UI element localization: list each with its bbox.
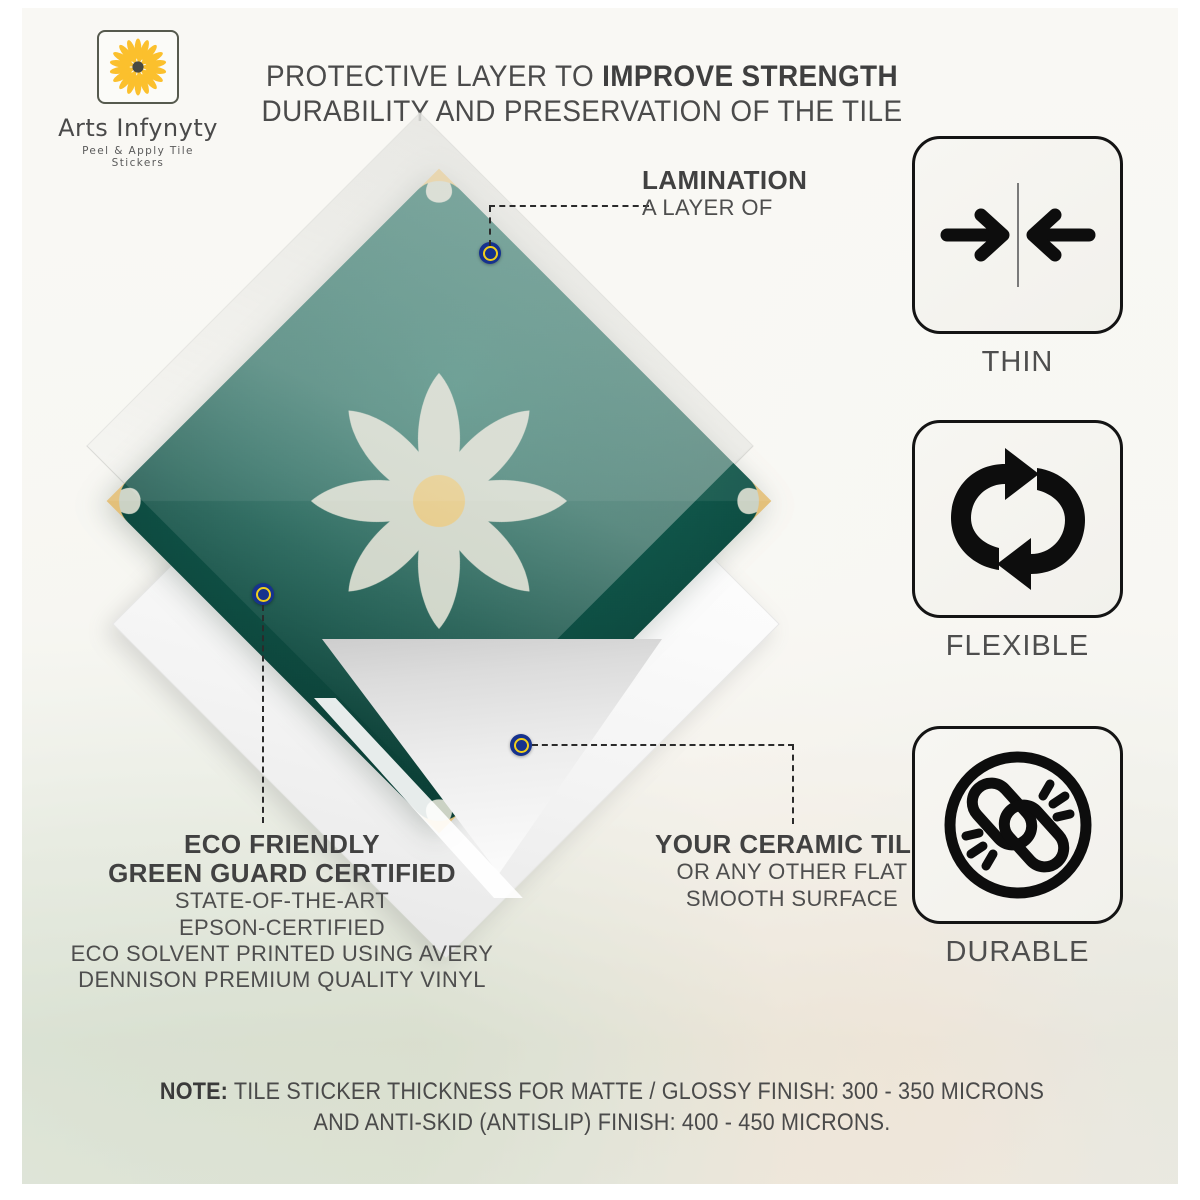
note-line-1-text: TILE STICKER THICKNESS FOR MATTE / GLOSS… [228,1078,1044,1105]
feature-flexible-box [912,420,1123,618]
callout-eco-body-3: ECO SOLVENT PRINTED USING AVERY [36,941,528,967]
callout-marker-eco-friendly[interactable] [252,583,274,605]
layer-stack-illustration [92,138,932,928]
feature-durable-box [912,726,1123,924]
leader-line-lamination-vertical [489,206,491,246]
page-title: PROTECTIVE LAYER TO IMPROVE STRENGTH DUR… [202,60,962,130]
feature-flexible-label: FLEXIBLE [910,630,1125,663]
headline-line-1: PROTECTIVE LAYER TO IMPROVE STRENGTH [229,60,936,95]
note-prefix: NOTE: [160,1078,228,1105]
callout-eco-friendly: ECO FRIENDLY GREEN GUARD CERTIFIED STATE… [36,830,528,994]
note-line-1: NOTE: TILE STICKER THICKNESS FOR MATTE /… [134,1076,1070,1107]
headline-line-2: DURABILITY AND PRESERVATION OF THE TILE [229,95,936,130]
callout-lamination-title: LAMINATION [642,166,807,195]
headline-emphasis: IMPROVE STRENGTH [602,60,898,93]
feature-thin: THIN [910,136,1125,379]
leader-line-lamination-horizontal [489,205,649,207]
footer-note: NOTE: TILE STICKER THICKNESS FOR MATTE /… [82,1076,1122,1138]
callout-eco-title-1: ECO FRIENDLY [36,830,528,859]
callout-eco-body-2: EPSON-CERTIFIED [36,915,528,941]
feature-flexible: FLEXIBLE [910,420,1125,663]
callout-lamination-subtitle: A LAYER OF [642,195,807,221]
callout-marker-ceramic-tile[interactable] [510,734,532,756]
logo-frame [97,30,179,104]
chain-link-circle-icon [939,746,1097,904]
callout-lamination: LAMINATION A LAYER OF [642,166,807,222]
feature-thin-label: THIN [910,346,1125,379]
arrows-compress-icon [933,175,1103,295]
feature-durable-label: DURABLE [910,936,1125,969]
headline-lead: PROTECTIVE LAYER TO [266,60,602,93]
poster-canvas: Arts Infynyty Peel & Apply Tile Stickers… [0,0,1200,1200]
leader-line-tile-vertical [792,744,794,824]
callout-eco-body-4: DENNISON PREMIUM QUALITY VINYL [36,967,528,993]
sunflower-icon [99,32,177,102]
leader-line-eco-vertical [262,605,264,823]
note-line-2: AND ANTI-SKID (ANTISLIP) FINISH: 400 - 4… [134,1107,1070,1138]
artboard: Arts Infynyty Peel & Apply Tile Stickers… [22,8,1178,1184]
callout-eco-body-1: STATE-OF-THE-ART [36,888,528,914]
leader-line-tile-horizontal [532,744,794,746]
feature-thin-box [912,136,1123,334]
bend-arrows-icon [943,444,1093,594]
feature-durable: DURABLE [910,726,1125,969]
callout-eco-title-2: GREEN GUARD CERTIFIED [36,859,528,888]
